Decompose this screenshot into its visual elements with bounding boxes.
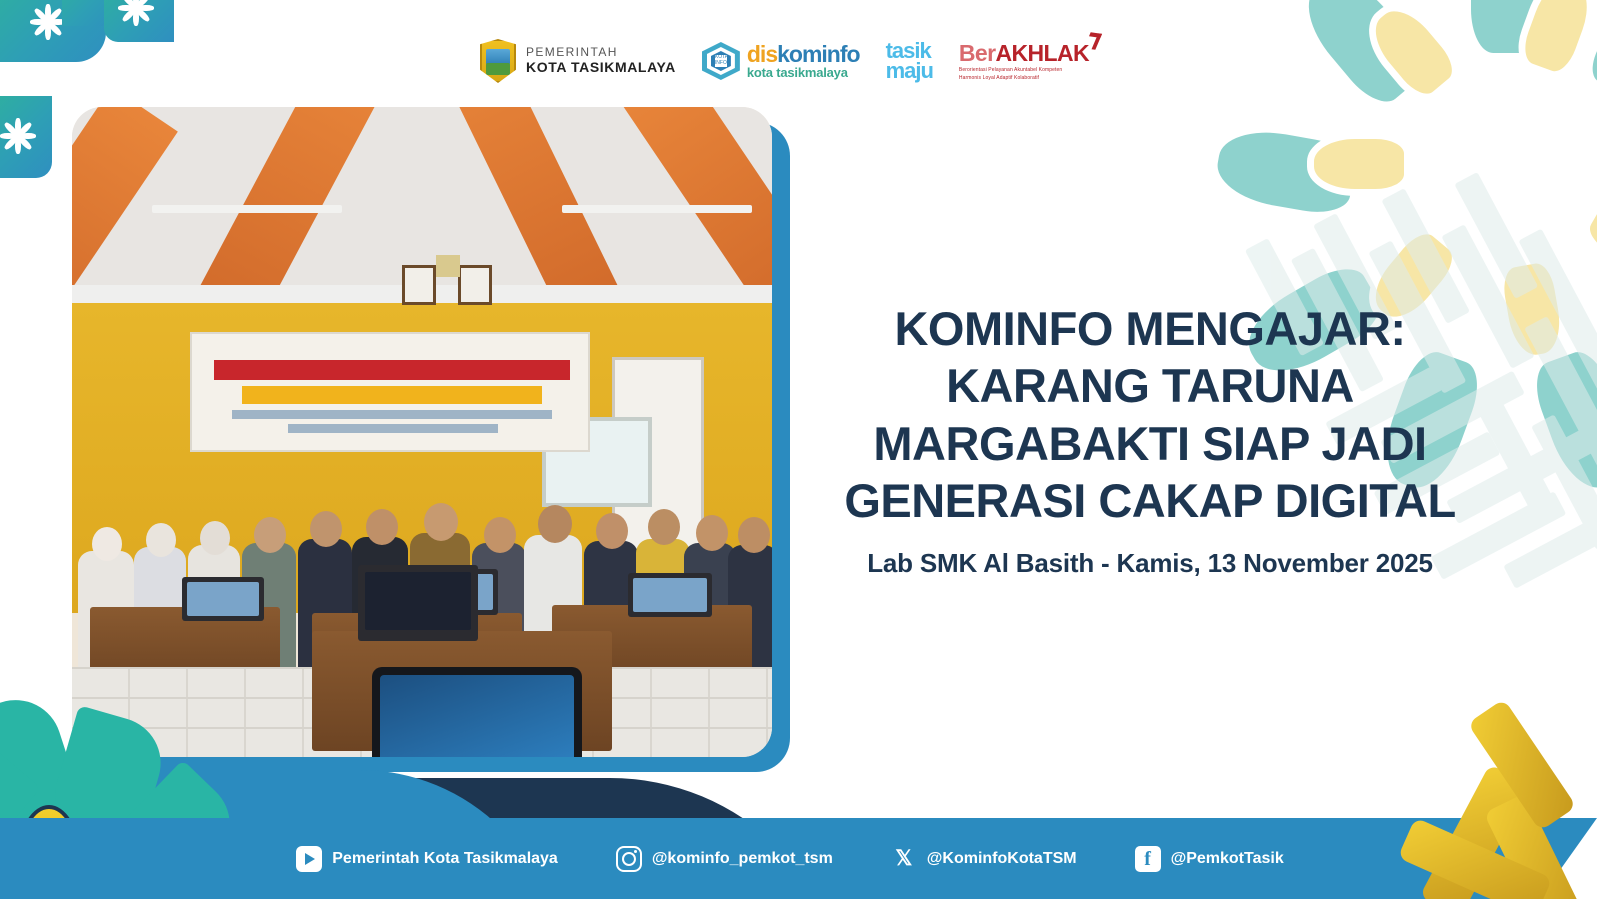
logo-line-2: KOTA TASIKMALAYA <box>526 60 676 76</box>
photo-laptop <box>628 573 712 617</box>
berakhlak-swoosh-icon <box>1084 32 1102 50</box>
event-photo <box>72 107 772 757</box>
social-youtube[interactable]: Pemerintah Kota Tasikmalaya <box>296 846 558 872</box>
diskominfo-tagline: kota tasikmalaya <box>747 66 860 79</box>
social-handle: Pemerintah Kota Tasikmalaya <box>332 850 558 868</box>
photo-tablet <box>372 667 582 757</box>
title-line-2: KARANG TARUNA <box>790 357 1510 414</box>
logo-pemerintah-kota-tasikmalaya: PEMERINTAH KOTA TASIKMALAYA <box>480 39 676 83</box>
photo-portrait-frame <box>458 265 492 305</box>
photo-portrait-frame <box>402 265 436 305</box>
instagram-icon <box>616 846 642 872</box>
social-links: Pemerintah Kota Tasikmalaya @kominfo_pem… <box>0 818 1460 899</box>
berakhlak-wordmark: BerAKHLAK <box>959 40 1089 67</box>
photo-center-laptop <box>358 565 478 641</box>
social-handle: @PemkotTasik <box>1171 850 1284 868</box>
page-subtitle: Lab SMK Al Basith - Kamis, 13 November 2… <box>790 548 1510 579</box>
berakhlak-values-line-2: Harmonis Loyal Adaptif Kolaboratif <box>959 75 1089 83</box>
logo-tasik-maju: tasik maju <box>886 41 933 81</box>
batik-block <box>62 0 118 26</box>
header-logo-row: PEMERINTAH KOTA TASIKMALAYA KOTA INFO di… <box>480 32 1100 90</box>
tasikmaju-line-2: maju <box>886 61 933 81</box>
title-line-4: GENERASI CAKAP DIGITAL <box>790 472 1510 529</box>
city-seal-icon <box>480 39 516 83</box>
photo-lamp <box>562 205 752 213</box>
photo-garuda-emblem <box>436 255 460 277</box>
youtube-icon <box>296 846 322 872</box>
social-x-twitter[interactable]: 𝕏 @KominfoKotaTSM <box>891 846 1077 872</box>
photo-event-banner <box>190 332 590 452</box>
diskominfo-mark-label: KOTA INFO <box>715 55 727 67</box>
photo-laptop <box>182 577 264 621</box>
facebook-icon <box>1135 846 1161 872</box>
photo-lamp <box>152 205 342 213</box>
poster-canvas: PEMERINTAH KOTA TASIKMALAYA KOTA INFO di… <box>0 0 1597 899</box>
social-handle: @KominfoKotaTSM <box>927 850 1077 868</box>
title-line-3: MARGABAKTI SIAP JADI <box>790 415 1510 472</box>
social-handle: @kominfo_pemkot_tsm <box>652 850 833 868</box>
batik-block <box>0 96 52 178</box>
logo-berakhlak: BerAKHLAK Berorientasi Pelayanan Akuntab… <box>959 40 1089 82</box>
logo-line-1: PEMERINTAH <box>526 46 676 59</box>
social-facebook[interactable]: @PemkotTasik <box>1135 846 1284 872</box>
berakhlak-values-line-1: Berorientasi Pelayanan Akuntabel Kompete… <box>959 67 1089 75</box>
batik-block <box>0 0 106 62</box>
diskominfo-mark-icon: KOTA INFO <box>702 42 740 80</box>
batik-block <box>104 0 174 42</box>
logo-diskominfo: KOTA INFO diskominfo kota tasikmalaya <box>702 42 860 80</box>
social-instagram[interactable]: @kominfo_pemkot_tsm <box>616 846 833 872</box>
title-line-1: KOMINFO MENGAJAR: <box>790 300 1510 357</box>
page-title: KOMINFO MENGAJAR: KARANG TARUNA MARGABAK… <box>790 300 1510 529</box>
x-twitter-icon: 𝕏 <box>891 846 917 872</box>
diskominfo-wordmark: diskominfo <box>747 43 860 66</box>
